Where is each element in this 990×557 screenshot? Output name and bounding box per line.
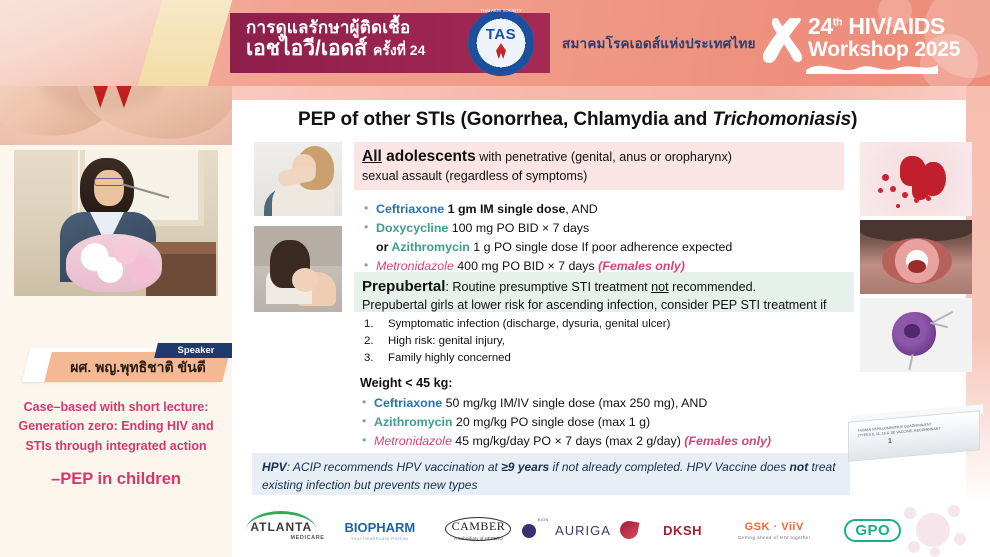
prepubertal-heading-b: recommended. bbox=[669, 280, 757, 294]
weight-drug-metronidazole: Metronidazole bbox=[374, 434, 452, 448]
camber-wordmark: CAMBER A Subsidiary of HETERO bbox=[429, 519, 528, 541]
photo-trichomonas-microscopy bbox=[860, 298, 972, 372]
med-females-only-note: (Females only) bbox=[598, 259, 685, 273]
criteria-item-1: 1.Symptomatic infection (discharge, dysu… bbox=[362, 316, 862, 333]
med-row-ceftriaxone: Ceftriaxone 1 gm IM single dose, AND bbox=[362, 200, 862, 219]
adolescents-heading-rest: with penetrative (genital, anus or oroph… bbox=[476, 150, 732, 164]
culture-dot-1 bbox=[882, 174, 889, 181]
speaker-glasses bbox=[94, 178, 124, 186]
sponsor-logo-auriga[interactable]: BION AURIGA bbox=[528, 523, 627, 538]
weight-med-ceftriaxone: Ceftriaxone 50 mg/kg IM/IV single dose (… bbox=[360, 394, 880, 413]
gpo-wordmark: GPO bbox=[844, 519, 901, 542]
criteria-text-2: High risk: genital injury, bbox=[388, 335, 505, 347]
biopharm-sub: Your Healthcare Partner bbox=[331, 536, 430, 541]
tas-logo-arc-text: THAI AIDS SOCIETY bbox=[465, 8, 537, 13]
med-dose-ceftriaxone: 1 gm IM single dose bbox=[444, 202, 565, 216]
weight-dose-azithromycin: 20 mg/kg PO single dose (max 1 g) bbox=[452, 415, 650, 429]
photo-speaker-at-podium bbox=[14, 150, 218, 296]
speaker-badge: Speaker bbox=[154, 343, 238, 358]
dksh-name: DKSH bbox=[663, 523, 702, 538]
atlanta-wordmark: ATLANTA MEDICARE bbox=[232, 520, 331, 541]
flagellum-3 bbox=[908, 354, 913, 370]
med-row-metronidazole: Metronidazole 400 mg PO BID × 7 days (Fe… bbox=[362, 257, 862, 276]
med-rest-doxycycline: 100 mg PO BID × 7 days bbox=[448, 221, 589, 235]
hpv-label: HPV bbox=[262, 460, 287, 474]
speaker-badge-label: Speaker bbox=[156, 343, 236, 358]
association-name: สมาคมโรคเอดส์แห่งประเทศไทย bbox=[562, 32, 756, 54]
photo-gonorrhea-culture bbox=[860, 142, 972, 216]
culture-dot-7 bbox=[896, 204, 900, 208]
auriga-emblem-icon bbox=[522, 524, 536, 538]
culture-dot-5 bbox=[878, 188, 883, 193]
aids-ribbon-icon bbox=[760, 18, 804, 64]
prepubertal-heading: Prepubertal: Routine presumptive STI tre… bbox=[362, 276, 862, 297]
prepubertal-criteria-list: 1.Symptomatic infection (discharge, dysu… bbox=[362, 316, 862, 367]
weight-med-metronidazole: Metronidazole 45 mg/kg/day PO × 7 days (… bbox=[360, 432, 880, 451]
workshop-line2: Workshop 2025 bbox=[808, 39, 960, 60]
criteria-number-1: 1. bbox=[364, 316, 374, 333]
virus-spike-5 bbox=[930, 547, 940, 557]
adolescents-line2: sexual assault (regardless of symptoms) bbox=[362, 168, 846, 186]
med-rest-azithromycin: 1 g PO single dose If poor adherence exp… bbox=[470, 240, 732, 254]
weight-block: Weight < 45 kg: Ceftriaxone 50 mg/kg IM/… bbox=[360, 374, 880, 451]
gsk-wordmark: GSK · ViiV Getting ahead of HIV together bbox=[725, 521, 824, 540]
hpv-text-b: if not already completed. HPV Vaccine do… bbox=[549, 460, 789, 474]
weight-drug-azithromycin: Azithromycin bbox=[374, 415, 452, 429]
gsk-sub: Getting ahead of HIV together bbox=[725, 535, 824, 540]
auriga-sub: BION bbox=[538, 517, 549, 522]
sponsor-footer: ATLANTA MEDICARE BIOPHARM Your Healthcar… bbox=[232, 503, 990, 557]
workshop-swoosh-icon bbox=[806, 62, 938, 74]
culture-dot-2 bbox=[890, 186, 896, 192]
sponsor-logo-gsk-viiv[interactable]: GSK · ViiV Getting ahead of HIV together bbox=[725, 521, 824, 540]
speaker-face bbox=[94, 170, 124, 206]
auriga-name: AURIGA bbox=[555, 523, 611, 538]
event-banner: การดูแลรักษาผู้ติดเชื้อ เอชไอวี/เอดส์ คร… bbox=[0, 0, 990, 86]
culture-dot-6 bbox=[926, 196, 931, 201]
slide-title-italic: Trichomoniasis bbox=[712, 109, 851, 130]
speaker-name-card: Speaker ผศ. พญ.พุทธิชาติ ขันตี bbox=[26, 348, 222, 382]
criteria-number-2: 2. bbox=[364, 333, 374, 350]
weight-drug-ceftriaxone: Ceftriaxone bbox=[374, 396, 442, 410]
med-or-prefix: or bbox=[376, 240, 391, 254]
workshop-hiv-aids: HIV/AIDS bbox=[842, 13, 944, 39]
talk-title: Case–based with short lecture: Generatio… bbox=[10, 398, 222, 456]
speaker-name: ผศ. พญ.พุทธิชาติ ขันตี bbox=[52, 357, 224, 379]
weight-females-only-note: (Females only) bbox=[684, 434, 771, 448]
criteria-item-3: 3.Family highly concerned bbox=[362, 350, 862, 367]
vaccine-dose-count: 1 bbox=[888, 438, 892, 445]
conference-edition: ครั้งที่ 24 bbox=[373, 42, 425, 58]
photo-distressed-teen bbox=[254, 142, 342, 216]
tas-ribbon-icon bbox=[496, 43, 506, 59]
hpv-note: HPV: ACIP recommends HPV vaccination at … bbox=[262, 458, 842, 494]
workshop-ordinal: th bbox=[833, 16, 843, 28]
adolescents-heading: All adolescents with penetrative (genita… bbox=[362, 146, 846, 168]
sponsor-logo-gpo[interactable]: GPO bbox=[823, 519, 922, 542]
tas-logo-inner: TAS bbox=[477, 19, 525, 67]
workshop-number: 24 bbox=[808, 13, 833, 39]
talk-subtitle: –PEP in children bbox=[10, 470, 222, 489]
atlanta-sub: MEDICARE bbox=[232, 535, 331, 541]
weight-dose-ceftriaxone: 50 mg/kg IM/IV single dose (max 250 mg),… bbox=[442, 396, 707, 410]
criteria-item-2: 2.High risk: genital injury, bbox=[362, 333, 862, 350]
sponsor-logo-atlanta[interactable]: ATLANTA MEDICARE bbox=[232, 520, 331, 541]
slide-top-band bbox=[232, 86, 990, 100]
med-rest-ceftriaxone: , AND bbox=[565, 202, 597, 216]
weight-dose-metronidazole: 45 mg/kg/day PO × 7 days (max 2 g/day) bbox=[452, 434, 684, 448]
workshop-line1: 24th HIV/AIDS bbox=[808, 15, 945, 38]
presentation-slide: PEP of other STIs (Gonorrhea, Chlamydia … bbox=[232, 86, 990, 503]
atlanta-arc-icon bbox=[246, 511, 316, 530]
drug-name-ceftriaxone: Ceftriaxone bbox=[376, 202, 444, 216]
weight-med-azithromycin: Azithromycin 20 mg/kg PO single dose (ma… bbox=[360, 413, 880, 432]
cervical-os bbox=[908, 260, 926, 273]
photo-cervix-examination bbox=[860, 220, 972, 294]
med-rest-metronidazole: 400 mg PO BID × 7 days bbox=[454, 259, 598, 273]
child-knee bbox=[292, 268, 318, 292]
sponsor-logo-dksh[interactable]: DKSH bbox=[626, 523, 725, 538]
trichomonas-nucleus bbox=[904, 324, 920, 338]
slide-title: PEP of other STIs (Gonorrhea, Chlamydia … bbox=[298, 109, 857, 131]
med-row-azithromycin: or Azithromycin 1 g PO single dose If po… bbox=[362, 238, 862, 257]
camber-name: CAMBER bbox=[452, 519, 506, 533]
biopharm-name: BIOPHARM bbox=[344, 520, 415, 535]
prepubertal-heading-a: : Routine presumptive STI treatment bbox=[445, 280, 651, 294]
flagellum-1 bbox=[933, 311, 953, 323]
med-row-doxycycline: Doxycycline 100 mg PO BID × 7 days bbox=[362, 219, 862, 238]
adolescents-medication-list: Ceftriaxone 1 gm IM single dose, AND Dox… bbox=[362, 200, 862, 275]
weight-heading: Weight < 45 kg: bbox=[360, 374, 880, 394]
virus-spike-3 bbox=[954, 533, 966, 545]
drug-name-metronidazole: Metronidazole bbox=[376, 259, 454, 273]
prepubertal-heading-not: not bbox=[651, 280, 669, 294]
sponsor-logo-row: ATLANTA MEDICARE BIOPHARM Your Healthcar… bbox=[232, 503, 922, 557]
criteria-text-3: Family highly concerned bbox=[388, 352, 511, 364]
sponsor-logo-camber[interactable]: CAMBER A Subsidiary of HETERO bbox=[429, 519, 528, 541]
flower-arrangement bbox=[66, 234, 162, 292]
prepubertal-block: Prepubertal: Routine presumptive STI tre… bbox=[362, 276, 862, 315]
workshop-logo: 24th HIV/AIDS Workshop 2025 bbox=[760, 14, 945, 72]
tas-logo-text: TAS bbox=[486, 27, 516, 42]
adolescents-block: All adolescents with penetrative (genita… bbox=[362, 146, 846, 186]
gsk-name: GSK · ViiV bbox=[745, 521, 804, 533]
culture-dot-3 bbox=[902, 192, 908, 198]
dksh-wordmark: DKSH bbox=[626, 523, 725, 538]
hpv-not: not bbox=[790, 460, 809, 474]
prepubertal-line2: Prepubertal girls at lower risk for asce… bbox=[362, 297, 862, 315]
tas-logo-icon: THAI AIDS SOCIETY TAS bbox=[468, 10, 534, 76]
photo-child-curled-up bbox=[254, 226, 342, 312]
adolescents-heading-word: adolescents bbox=[382, 148, 476, 165]
slide-screenshot: Speaker ผศ. พญ.พุทธิชาติ ขันตี Case–base… bbox=[0, 0, 990, 557]
drug-name-azithromycin: Azithromycin bbox=[391, 240, 469, 254]
hpv-text-a: : ACIP recommends HPV vaccination at bbox=[287, 460, 502, 474]
auriga-wordmark: BION AURIGA bbox=[528, 523, 627, 538]
virus-spike-2 bbox=[948, 505, 960, 517]
dksh-fan-icon bbox=[619, 519, 640, 540]
conference-thai-title-main: เอชไอวี/เอดส์ bbox=[246, 37, 367, 60]
culture-dot-4 bbox=[914, 198, 919, 203]
biopharm-wordmark: BIOPHARM Your Healthcare Partner bbox=[331, 520, 430, 541]
slide-title-part2: ) bbox=[851, 109, 857, 130]
criteria-number-3: 3. bbox=[364, 350, 374, 367]
hpv-age-threshold: ≥9 years bbox=[501, 460, 549, 474]
adolescents-heading-all: All bbox=[362, 148, 382, 165]
drug-name-doxycycline: Doxycycline bbox=[376, 221, 448, 235]
prepubertal-heading-word: Prepubertal bbox=[362, 278, 445, 295]
slide-title-part1: PEP of other STIs (Gonorrhea, Chlamydia … bbox=[298, 109, 712, 130]
sponsor-logo-biopharm[interactable]: BIOPHARM Your Healthcare Partner bbox=[331, 520, 430, 541]
criteria-text-1: Symptomatic infection (discharge, dysuri… bbox=[388, 318, 670, 330]
